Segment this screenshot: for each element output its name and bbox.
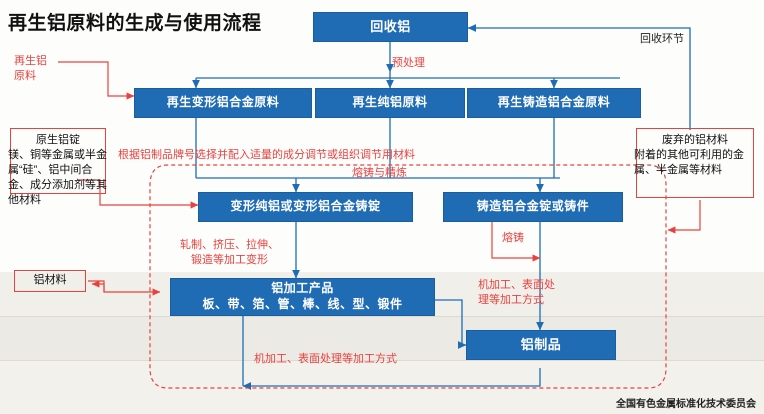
node-wrought-ingot[interactable]: 变形纯铝或变形铝合金铸锭 xyxy=(198,192,413,222)
label-recycle-link: 回收环节 xyxy=(640,32,684,47)
label-melt-refine: 熔铸与精炼 xyxy=(352,166,407,181)
node-processed-products[interactable]: 铝加工产品 板、带、箔、管、棒、线、型、锻件 xyxy=(170,278,435,316)
node-cast-alloy-stock[interactable]: 再生铸造铝合金原料 xyxy=(467,88,641,118)
label-deformation: 轧制、挤压、拉伸、 锻造等加工变形 xyxy=(180,238,279,268)
node-pure-aluminum-stock[interactable]: 再生纯铝原料 xyxy=(315,88,465,118)
diagram-canvas: 再生铝原料的生成与使用流程 回收铝 再生变形铝合金原料 再生纯铝原料 再生铸造铝… xyxy=(0,0,764,414)
footer-credit: 全国有色金属标准化技术委员会 xyxy=(616,395,756,410)
box-raw-ingot-body: 镁、铜等金属或半金属“硅”、铝中间合金、成分添加剂等其他材料 xyxy=(8,148,110,207)
label-pretreatment: 预处理 xyxy=(392,56,425,71)
label-machining-bottom: 机加工、表面处理等加工方式 xyxy=(254,352,397,367)
processed-products-list: 板、带、箔、管、棒、线、型、锻件 xyxy=(202,297,402,313)
label-machining-right: 机加工、表面处 理等加工方式 xyxy=(478,278,555,308)
box-raw-ingot-header: 原生铝锭 xyxy=(17,133,99,149)
background-plank-line xyxy=(0,316,764,317)
label-selection-note: 根据铝制品牌号选择并配入适量的成分调节或组织调节用材料 xyxy=(118,148,415,163)
label-recycled-raw: 再生铝 原料 xyxy=(14,54,47,84)
node-wrought-alloy-stock[interactable]: 再生变形铝合金原料 xyxy=(134,88,312,118)
box-scrap-body: 附着的其他可利用的金属、半金属等材料 xyxy=(634,148,758,178)
page-title: 再生铝原料的生成与使用流程 xyxy=(8,8,262,35)
node-recycled-aluminum[interactable]: 回收铝 xyxy=(313,12,468,42)
node-aluminum-goods[interactable]: 铝制品 xyxy=(466,330,616,360)
processed-products-title: 铝加工产品 xyxy=(271,281,334,297)
box-scrap-header: 废弃的铝材料 xyxy=(643,133,747,149)
node-cast-ingot[interactable]: 铸造铝合金锭或铸件 xyxy=(443,192,623,222)
box-aluminum-material[interactable]: 铝材料 xyxy=(14,270,86,292)
label-remelt: 熔铸 xyxy=(502,231,524,246)
